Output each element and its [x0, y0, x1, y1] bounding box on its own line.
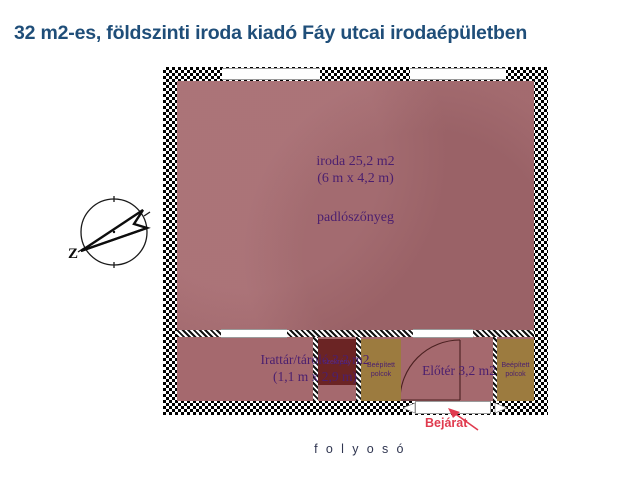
office-dimensions-text: (6 m x 4,2 m) — [163, 170, 548, 187]
page-title: 32 m2-es, földszinti iroda kiadó Fáy utc… — [14, 22, 630, 45]
compass-label: Z — [68, 246, 78, 262]
foyer-room-label: Előtér 3,2 m2 — [399, 363, 519, 379]
office-area-text: iroda 25,2 m2 — [163, 153, 548, 170]
corridor-label: f o l y o s ó — [280, 442, 440, 456]
door-opening-foyer — [413, 329, 473, 338]
office-floor-covering-label: padlószőnyeg — [163, 210, 548, 226]
window-top-left — [222, 68, 320, 80]
entrance-label: Bejárat — [425, 416, 535, 430]
window-top-right — [410, 68, 506, 80]
compass-north-arrow-icon: Z — [64, 188, 158, 276]
floorplan: szekrény Beépített polcok Beépített polc… — [163, 67, 548, 415]
office-floor-area — [177, 81, 534, 330]
screenshot-root: 32 m2-es, földszinti iroda kiadó Fáy utc… — [0, 0, 640, 480]
door-opening-storage — [221, 329, 287, 338]
office-room-label: iroda 25,2 m2 (6 m x 4,2 m) — [163, 153, 548, 187]
